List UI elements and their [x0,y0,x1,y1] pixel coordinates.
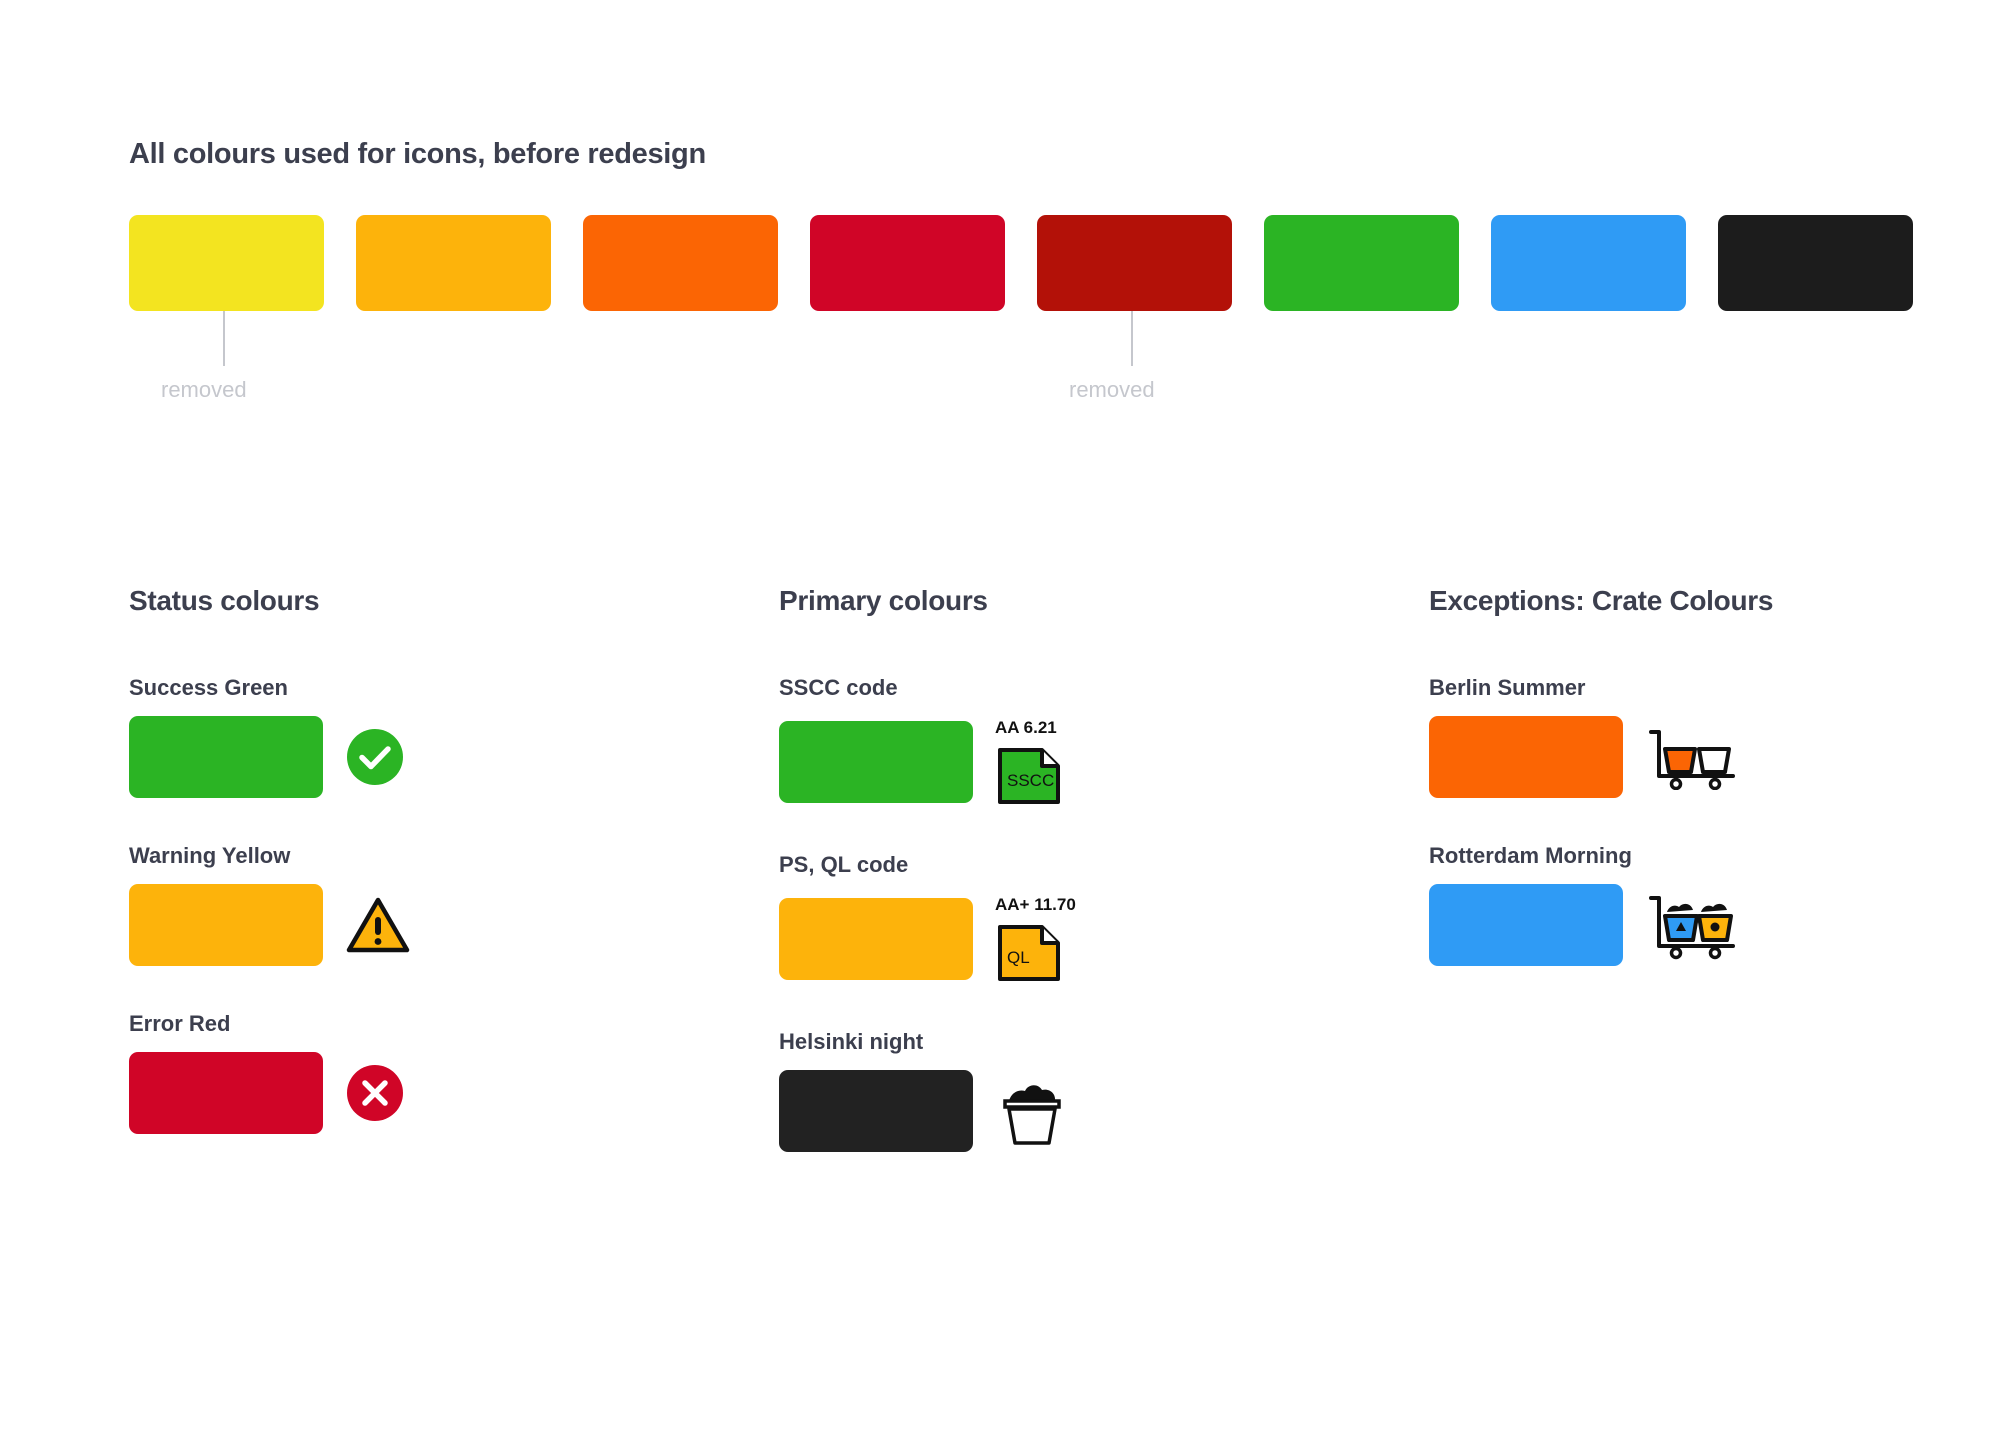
document-icon: SSCC [995,745,1063,807]
palette-section: All colours used for icons, before redes… [129,138,1913,311]
colour-item: PS, QL codeAA+ 11.70 QL [779,852,1429,984]
colour-item-label: PS, QL code [779,852,1429,878]
warning-triangle-icon [345,895,411,955]
crate-bin-icon [995,1073,1069,1149]
icon-slot [1645,724,1741,790]
colour-swatch[interactable] [129,716,323,798]
colour-swatch[interactable] [129,884,323,966]
icon-slot [995,1073,1069,1149]
check-circle-icon [345,727,405,787]
colour-swatch[interactable] [1429,716,1623,798]
column-title: Exceptions: Crate Colours [1429,585,1919,617]
palette-swatch-cell [1491,215,1686,311]
icon-slot [1645,890,1741,960]
palette-swatch-cell: removed [1037,215,1232,311]
colour-columns: Status coloursSuccess Green Warning Yell… [129,585,1919,1197]
colour-item-label: Rotterdam Morning [1429,843,1919,869]
icon-slot [345,1063,405,1123]
document-icon: QL [995,922,1063,984]
palette-title: All colours used for icons, before redes… [129,138,1913,171]
removed-label: removed [161,377,247,403]
leader-line [1131,311,1133,366]
colour-swatch[interactable] [129,215,324,311]
colour-column-status: Status coloursSuccess Green Warning Yell… [129,585,779,1197]
colour-swatch[interactable] [356,215,551,311]
column-title: Primary colours [779,585,1429,617]
colour-item-body [129,884,779,966]
colour-column-primary: Primary coloursSSCC codeAA 6.21 SSCCPS, … [779,585,1429,1197]
colour-swatch[interactable] [1264,215,1459,311]
colour-swatch[interactable] [129,1052,323,1134]
colour-swatch[interactable] [779,1070,973,1152]
document-code-label: SSCC [1007,771,1054,791]
colour-swatch[interactable] [1491,215,1686,311]
colour-swatch[interactable] [779,721,973,803]
icon-slot [345,895,411,955]
colour-item-body [129,1052,779,1134]
colour-swatch[interactable] [1037,215,1232,311]
leader-line [223,311,225,366]
palette-swatch-cell [1718,215,1913,311]
colour-item-label: Warning Yellow [129,843,779,869]
colour-swatch[interactable] [1429,884,1623,966]
contrast-ratio-label: AA+ 11.70 [995,895,1076,915]
colour-item-body [129,716,779,798]
colour-item: Berlin Summer [1429,675,1919,798]
colour-swatch[interactable] [1718,215,1913,311]
colour-item-label: Error Red [129,1011,779,1037]
colour-item: SSCC codeAA 6.21 SSCC [779,675,1429,807]
palette-swatch-cell [356,215,551,311]
colour-item-label: Berlin Summer [1429,675,1919,701]
palette-swatch-cell [1264,215,1459,311]
contrast-block: AA+ 11.70 QL [995,893,1076,984]
contrast-ratio-label: AA 6.21 [995,718,1057,738]
colour-item-body [1429,716,1919,798]
colour-item: Error Red [129,1011,779,1134]
colour-swatch[interactable] [810,215,1005,311]
error-circle-icon [345,1063,405,1123]
colour-item-label: Success Green [129,675,779,701]
palette-swatch-cell [810,215,1005,311]
removed-label: removed [1069,377,1155,403]
colour-item-body [779,1070,1429,1152]
cart-crates-blue-icon [1645,890,1741,960]
colour-item: Rotterdam Morning [1429,843,1919,966]
document-code-label: QL [1007,948,1030,968]
colour-item: Warning Yellow [129,843,779,966]
palette-swatch-row: removedremoved [129,215,1913,311]
colour-item-label: SSCC code [779,675,1429,701]
cart-crates-orange-icon [1645,724,1741,790]
colour-item-body [1429,884,1919,966]
colour-column-exceptions: Exceptions: Crate ColoursBerlin Summer R… [1429,585,1919,1197]
colour-swatch[interactable] [583,215,778,311]
colour-item: Success Green [129,675,779,798]
colour-item-body: AA 6.21 SSCC [779,716,1429,807]
colour-item-body: AA+ 11.70 QL [779,893,1429,984]
column-title: Status colours [129,585,779,617]
palette-swatch-cell: removed [129,215,324,311]
colour-item-label: Helsinki night [779,1029,1429,1055]
contrast-block: AA 6.21 SSCC [995,716,1063,807]
palette-swatch-cell [583,215,778,311]
icon-slot [345,727,405,787]
colour-swatch[interactable] [779,898,973,980]
colour-item: Helsinki night [779,1029,1429,1152]
